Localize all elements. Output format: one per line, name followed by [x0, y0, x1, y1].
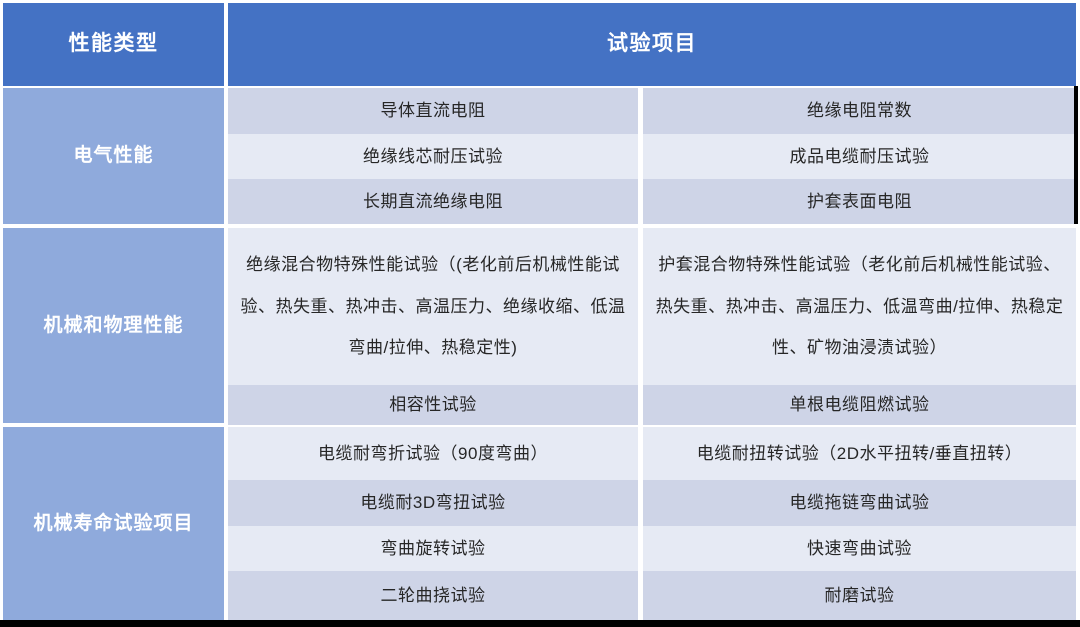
table-cell-electrical-r1-left: 绝缘线芯耐压试验: [228, 134, 638, 179]
table-cell-electrical-r2-left: 长期直流绝缘电阻: [228, 179, 638, 224]
table-cell-electrical-r2-right: 护套表面电阻: [643, 179, 1076, 224]
header-category: 性能类型: [3, 3, 224, 86]
table-cell-mechlife-r2-left: 弯曲旋转试验: [228, 526, 638, 571]
table-cell-mechphys-r0-right-text: 护套混合物特殊性能试验（老化前后机械性能试验、热失重、热冲击、高温压力、低温弯曲…: [643, 244, 1076, 369]
table-cell-mechphys-r1-right: 单根电缆阻燃试验: [643, 385, 1076, 425]
table-cell-mechphys-r0-left-text: 绝缘混合物特殊性能试验（(老化前后机械性能试验、热失重、热冲击、高温压力、绝缘收…: [228, 244, 638, 369]
table-cell-electrical-r0-right: 绝缘电阻常数: [643, 88, 1076, 134]
table-cell-mechlife-r1-right: 电缆拖链弯曲试验: [643, 480, 1076, 526]
right-edge-artifact: [1074, 86, 1078, 224]
table-cell-electrical-r1-right: 成品电缆耐压试验: [643, 134, 1076, 179]
table-cell-electrical-r0-left: 导体直流电阻: [228, 88, 638, 134]
category-label-mechanical-physical: 机械和物理性能: [3, 228, 224, 423]
table-cell-mechphys-r1-left: 相容性试验: [228, 385, 638, 425]
header-test-items: 试验项目: [228, 3, 1076, 86]
table-cell-mechlife-r2-right: 快速弯曲试验: [643, 526, 1076, 571]
performance-test-table: 性能类型 试验项目 电气性能 导体直流电阻 绝缘电阻常数 绝缘线芯耐压试验 成品…: [0, 0, 1080, 627]
table-cell-mechlife-r1-left: 电缆耐3D弯扭试验: [228, 480, 638, 526]
table-cell-mechlife-r3-right: 耐磨试验: [643, 571, 1076, 620]
table-cell-mechphys-r0-right: 护套混合物特殊性能试验（老化前后机械性能试验、热失重、热冲击、高温压力、低温弯曲…: [643, 228, 1076, 385]
table-cell-mechlife-r0-left: 电缆耐弯折试验（90度弯曲）: [228, 427, 638, 480]
category-label-electrical: 电气性能: [3, 88, 224, 224]
bottom-edge-artifact: [0, 620, 1080, 627]
table-cell-mechphys-r0-left: 绝缘混合物特殊性能试验（(老化前后机械性能试验、热失重、热冲击、高温压力、绝缘收…: [228, 228, 638, 385]
category-label-mechanical-life: 机械寿命试验项目: [3, 427, 224, 620]
table-cell-mechlife-r0-right: 电缆耐扭转试验（2D水平扭转/垂直扭转）: [643, 427, 1076, 480]
table-cell-mechlife-r3-left: 二轮曲挠试验: [228, 571, 638, 620]
